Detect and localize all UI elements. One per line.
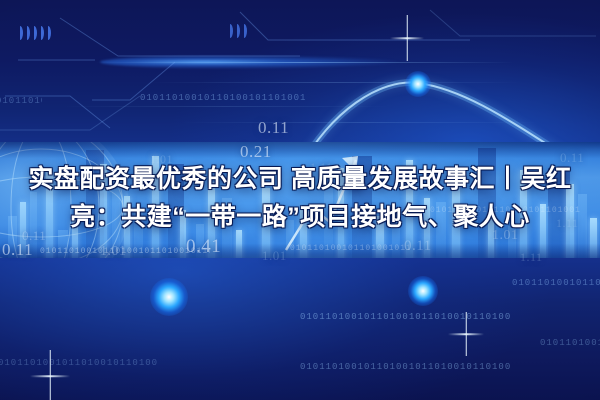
sparkle-icon-top [390, 15, 424, 61]
table-row [152, 156, 159, 260]
table-row [222, 198, 232, 260]
glow-node-lower-right [408, 276, 438, 306]
binary-strip-left: 0101101001011010010110100101101001011010… [0, 96, 42, 106]
table-row [520, 170, 527, 260]
bar-backdrop [168, 164, 184, 260]
binary-strip-bottom-4: 0101101001011010010110100101101001011010… [540, 338, 600, 348]
value-label: 0.11 [560, 150, 584, 166]
value-label: 1.01 [100, 244, 127, 260]
value-label: 1.11 [556, 216, 579, 231]
value-label: 1.01 [262, 248, 287, 264]
hairline-1 [95, 62, 515, 63]
value-label: 1.11 [520, 250, 543, 265]
value-label: 0.11 [2, 240, 33, 260]
glow-node-arc [405, 71, 431, 97]
binary-strip-band-2: 0101101001011010010110100101101001011010… [290, 244, 410, 253]
sparkle-icon-bottom-left [30, 350, 70, 400]
value-label: 0.11 [404, 238, 432, 255]
binary-strip-bottom-3: 0101101001011010010110100101101001011010… [300, 362, 510, 372]
binary-strip-bottom-1: 0101101001011010010110100101101001011010… [512, 278, 600, 288]
value-label: 0.21 [240, 142, 272, 162]
table-row [236, 230, 242, 260]
hairline-4 [180, 122, 540, 123]
value-label: 0.11 [258, 118, 289, 138]
glow-node-lower-left [150, 278, 188, 316]
value-label: 1.01 [150, 152, 173, 167]
bottom-dark-zone [0, 258, 600, 400]
table-row [452, 176, 460, 260]
binary-strip-band-3: 0101101001011010010110100101101001011010… [430, 206, 580, 215]
table-row [286, 220, 294, 260]
sparkle-icon-bottom-mid [448, 312, 484, 356]
value-label: 1.11 [310, 160, 333, 175]
top-dark-zone [0, 0, 600, 150]
chevron-group-top-left [18, 26, 51, 40]
table-row [590, 218, 597, 260]
hairline-2 [150, 82, 520, 83]
chevron-group-top-right [228, 24, 247, 38]
binary-strip-bottom-5: 0101101001011010010110100101101001011010… [0, 358, 158, 368]
binary-strip-top: 0101101001011010010110100101101001011010… [140, 93, 305, 103]
table-row [578, 194, 587, 260]
banner-image: 0101101001011010010110100101101001011010… [0, 0, 600, 400]
table-row [376, 216, 384, 260]
value-label: 0.41 [186, 236, 221, 258]
value-label: 1.01 [492, 228, 519, 244]
hairline-3 [60, 106, 390, 107]
